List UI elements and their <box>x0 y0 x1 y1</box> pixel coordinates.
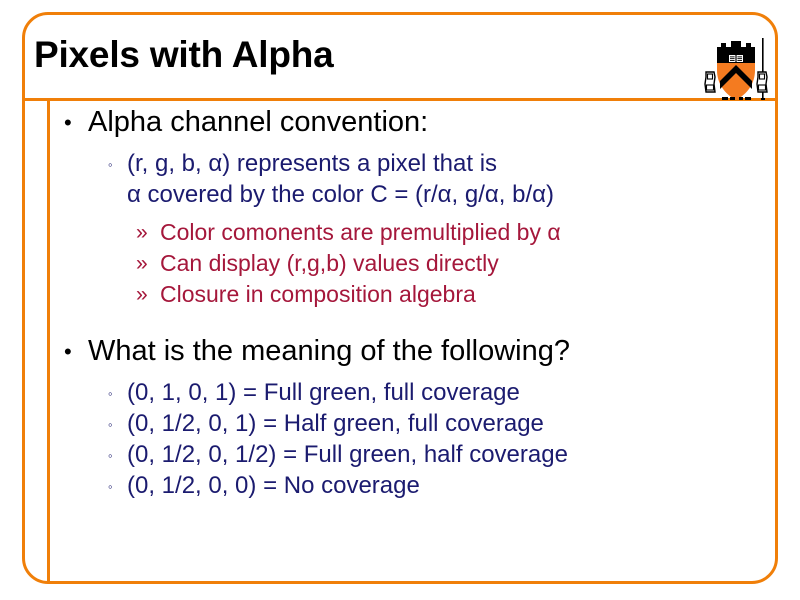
bullet-marker-level3: » <box>136 279 148 310</box>
bullet-level3-label: Color comonents are premultiplied by α <box>160 219 561 245</box>
bullet-level3-closure: » Closure in composition algebra <box>58 279 774 310</box>
bullet-level2-no-coverage: ◦ (0, 1/2, 0, 0) = No coverage <box>58 470 774 501</box>
slide: Pixels with Alpha <box>0 0 800 600</box>
bullet-level2-half-green-full-coverage: ◦ (0, 1/2, 0, 1) = Half green, full cove… <box>58 408 774 439</box>
bullet-marker-level3: » <box>136 217 148 248</box>
bullet-level3-label: Can display (r,g,b) values directly <box>160 250 499 276</box>
bullet-level2-label: (0, 1, 0, 1) = Full green, full coverage <box>127 379 520 406</box>
spacer <box>58 210 774 217</box>
bullet-level3-premultiplied: » Color comonents are premultiplied by α <box>58 217 774 248</box>
princeton-shield-logo <box>700 34 780 110</box>
body-vertical-rule <box>47 101 50 583</box>
bullet-level2-label: (r, g, b, α) represents a pixel that is <box>127 150 497 177</box>
spacer <box>58 370 774 377</box>
bullet-marker-level2: ◦ <box>108 439 113 472</box>
bullet-level1-label: What is the meaning of the following? <box>88 335 570 367</box>
bullet-level3-label: Closure in composition algebra <box>160 281 476 307</box>
bullet-marker-level2: ◦ <box>108 470 113 503</box>
bullet-marker-level3: » <box>136 248 148 279</box>
spacer <box>58 141 774 148</box>
slide-body: • Alpha channel convention: ◦ (r, g, b, … <box>58 104 774 501</box>
bullet-marker-level2: ◦ <box>108 408 113 441</box>
bullet-level2-full-green-half-coverage: ◦ (0, 1/2, 0, 1/2) = Full green, half co… <box>58 439 774 470</box>
page-title: Pixels with Alpha <box>34 34 334 76</box>
bullet-level2-rgba-definition: ◦ (r, g, b, α) represents a pixel that i… <box>58 148 774 179</box>
bullet-level2-label: (0, 1/2, 0, 0) = No coverage <box>127 472 420 499</box>
bullet-level3-display-directly: » Can display (r,g,b) values directly <box>58 248 774 279</box>
bullet-level1-alpha-channel-convention: • Alpha channel convention: <box>58 104 774 141</box>
bullet-level2-label: (0, 1/2, 0, 1/2) = Full green, half cove… <box>127 441 568 468</box>
spacer <box>58 310 774 333</box>
title-divider-rule <box>22 98 778 101</box>
bullet-level1-what-is-the-meaning: • What is the meaning of the following? <box>58 333 774 370</box>
bullet-marker-level1: • <box>64 104 72 141</box>
title-bar: Pixels with Alpha <box>0 12 800 98</box>
bullet-level2-label: (0, 1/2, 0, 1) = Half green, full covera… <box>127 410 544 437</box>
bullet-level1-label: Alpha channel convention: <box>88 106 428 138</box>
bullet-marker-level1: • <box>64 333 72 370</box>
bullet-level2-rgba-definition-continued: α covered by the color C = (r/α, g/α, b/… <box>58 179 774 210</box>
bullet-marker-level2: ◦ <box>108 377 113 410</box>
bullet-marker-level2: ◦ <box>108 148 113 181</box>
bullet-level2-full-green-full-coverage: ◦ (0, 1, 0, 1) = Full green, full covera… <box>58 377 774 408</box>
